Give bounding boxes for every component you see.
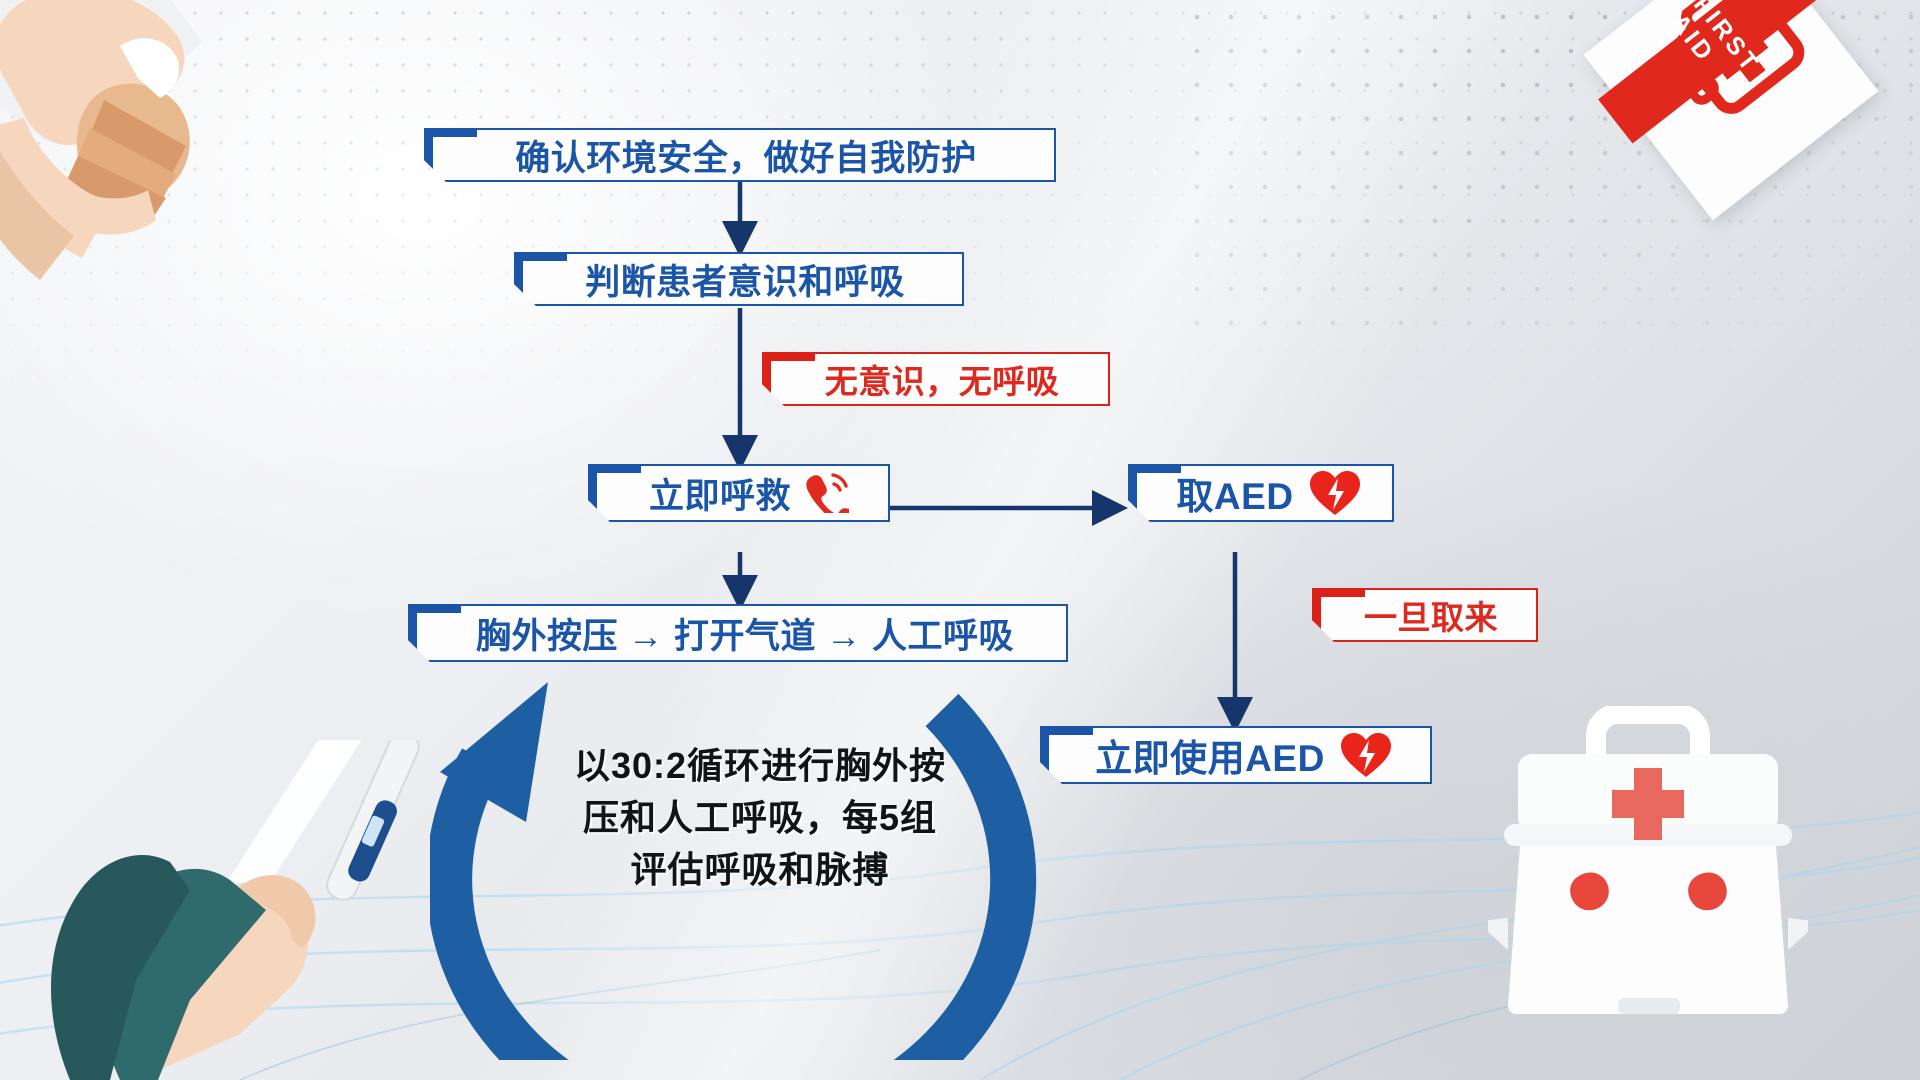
cycle-note-line-1: 以30:2循环进行胸外按 (520, 740, 1000, 792)
cycle-note: 以30:2循环进行胸外按 压和人工呼吸，每5组 评估呼吸和脉搏 (520, 740, 1000, 895)
node-call-help-label: 立即呼救 (649, 468, 791, 519)
cycle-note-line-2: 压和人工呼吸，每5组 (520, 792, 1000, 844)
phone-icon (803, 473, 849, 513)
heart-bolt-icon (1339, 731, 1393, 779)
cpr-flowchart-canvas: FIRST AID 确认环境安全，做好自我防护 判断患者意识和呼吸 无意识，无呼… (0, 0, 1920, 1080)
node-no-response[interactable]: 无意识，无呼吸 (762, 352, 1110, 406)
node-assess-patient-label: 判断患者意识和呼吸 (585, 254, 905, 305)
node-once-retrieved-label: 一旦取来 (1364, 591, 1498, 639)
node-assess-patient[interactable]: 判断患者意识和呼吸 (514, 252, 964, 306)
heart-bolt-icon (1308, 469, 1362, 517)
node-no-response-label: 无意识，无呼吸 (825, 355, 1060, 403)
node-get-aed[interactable]: 取AED (1128, 464, 1394, 522)
node-use-aed-label: 立即使用AED (1095, 728, 1325, 782)
node-call-help[interactable]: 立即呼救 (588, 464, 890, 522)
node-use-aed[interactable]: 立即使用AED (1040, 726, 1432, 784)
node-confirm-scene-label: 确认环境安全，做好自我防护 (515, 130, 977, 181)
node-get-aed-label: 取AED (1176, 466, 1293, 520)
cycle-note-line-3: 评估呼吸和脉搏 (520, 844, 1000, 896)
node-cpr-sequence[interactable]: 胸外按压 → 打开气道 → 人工呼吸 (408, 604, 1068, 662)
node-once-retrieved[interactable]: 一旦取来 (1312, 588, 1538, 642)
node-cpr-sequence-label: 胸外按压 → 打开气道 → 人工呼吸 (476, 608, 1014, 659)
node-confirm-scene[interactable]: 确认环境安全，做好自我防护 (424, 128, 1056, 182)
